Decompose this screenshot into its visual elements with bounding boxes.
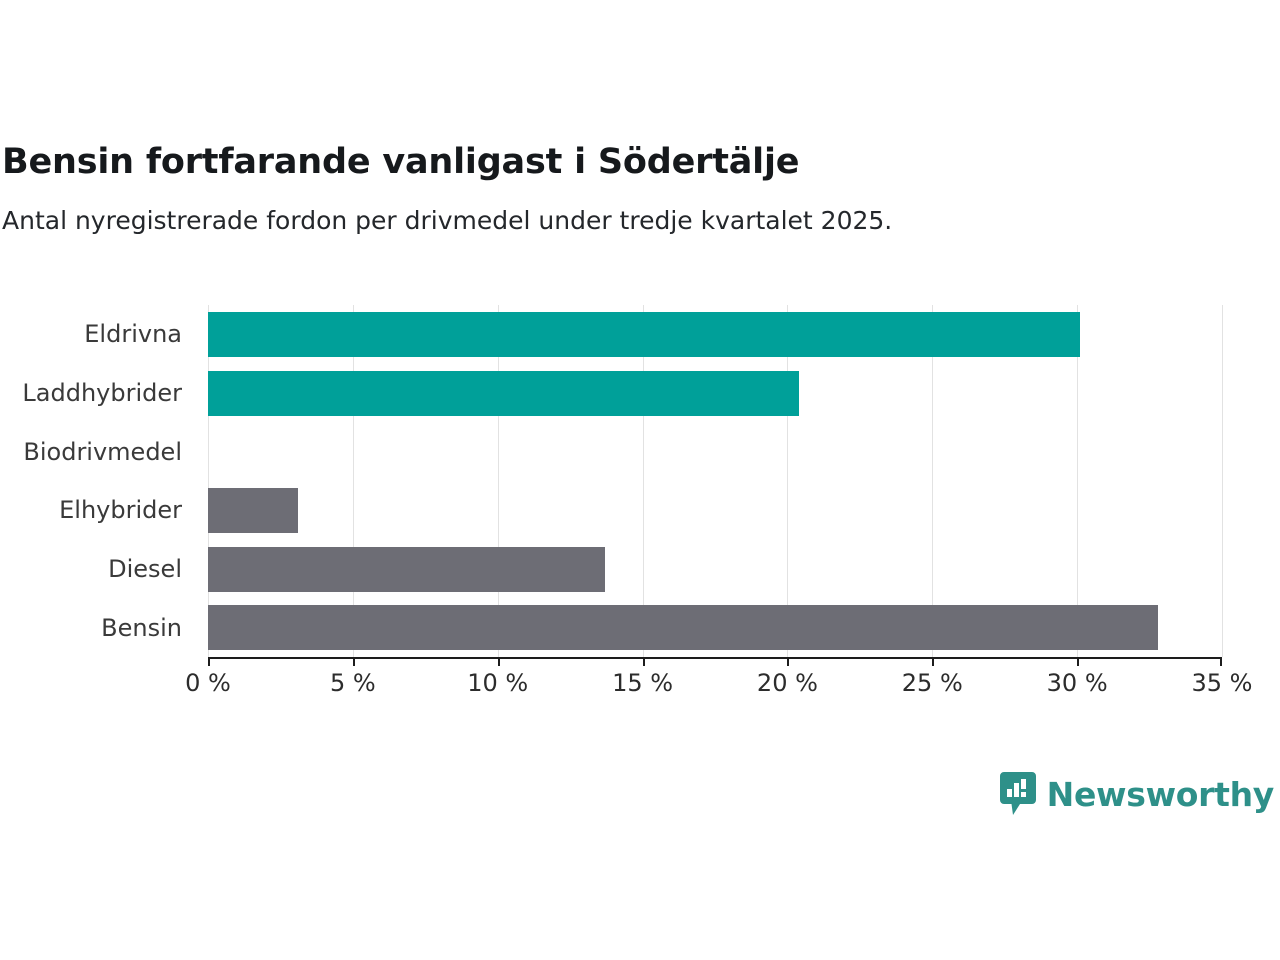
bar-row (208, 540, 1222, 599)
bar[interactable] (208, 488, 298, 533)
bar-row (208, 305, 1222, 364)
x-tick-mark (1220, 657, 1222, 666)
page-title: Bensin fortfarande vanligast i Södertälj… (0, 140, 1280, 184)
y-axis-category-labels: EldrivnaLaddhybriderBiodrivmedelElhybrid… (0, 305, 192, 657)
bar-row (208, 364, 1222, 423)
x-axis: 0 %5 %10 %15 %20 %25 %30 %35 % (208, 657, 1222, 717)
chart-plot-area: EldrivnaLaddhybriderBiodrivmedelElhybrid… (0, 300, 1280, 700)
y-axis-label: Laddhybrider (0, 364, 192, 423)
x-tick-mark (208, 657, 210, 666)
newsworthy-logo: Newsworthy (1000, 772, 1274, 816)
x-tick-label: 5 % (330, 671, 376, 695)
bar[interactable] (208, 312, 1080, 357)
bar-row (208, 598, 1222, 657)
x-tick-mark (787, 657, 789, 666)
x-tick-label: 25 % (902, 671, 963, 695)
newsworthy-wordmark: Newsworthy (1047, 778, 1274, 811)
bar[interactable] (208, 605, 1158, 650)
chart-grid-and-bars (208, 305, 1222, 657)
gridline (1222, 305, 1223, 657)
x-tick-label: 30 % (1047, 671, 1108, 695)
x-tick-label: 15 % (612, 671, 673, 695)
chart-subtitle: Antal nyregistrerade fordon per drivmede… (0, 184, 1280, 238)
y-axis-label: Diesel (0, 540, 192, 599)
x-axis-line (208, 657, 1222, 659)
chart-header: Bensin fortfarande vanligast i Södertälj… (0, 140, 1280, 238)
x-tick-mark (932, 657, 934, 666)
x-tick-label: 10 % (467, 671, 528, 695)
bar-series (208, 305, 1222, 657)
x-tick-label: 0 % (185, 671, 231, 695)
bar[interactable] (208, 371, 799, 416)
x-tick-mark (643, 657, 645, 666)
x-tick-label: 20 % (757, 671, 818, 695)
bar-row (208, 481, 1222, 540)
y-axis-label: Eldrivna (0, 305, 192, 364)
x-tick-label: 35 % (1192, 671, 1253, 695)
y-axis-label: Biodrivmedel (0, 422, 192, 481)
bar-row (208, 422, 1222, 481)
bar[interactable] (208, 547, 605, 592)
x-tick-mark (1077, 657, 1079, 666)
bar-chart-speech-bubble-icon (1000, 772, 1036, 816)
x-tick-mark (353, 657, 355, 666)
y-axis-label: Elhybrider (0, 481, 192, 540)
x-tick-mark (498, 657, 500, 666)
y-axis-label: Bensin (0, 598, 192, 657)
